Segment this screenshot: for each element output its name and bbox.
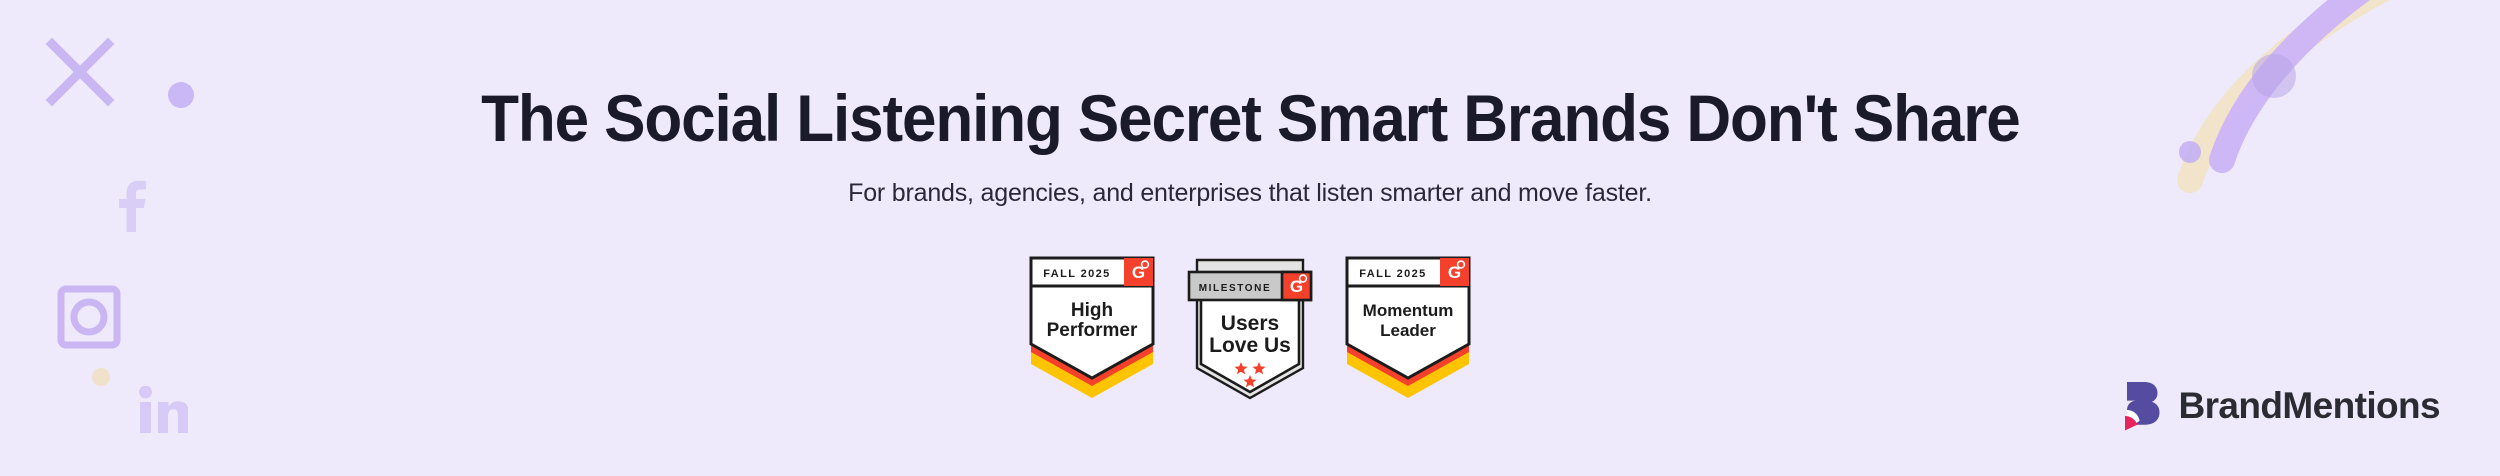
page-title: The Social Listening Secret Smart Brands… — [481, 84, 2020, 153]
brandmentions-mark-icon — [2119, 380, 2165, 432]
svg-text:G: G — [1290, 277, 1303, 296]
badge-period: FALL 2025 — [1359, 268, 1426, 280]
brandmentions-wordmark: BrandMentions — [2179, 385, 2440, 427]
g2-badge-high-performer[interactable]: G FALL 2025 High Performer — [1025, 252, 1159, 404]
badge-title-line2: Performer — [1047, 320, 1138, 341]
badge-title-line2: Love Us — [1209, 334, 1291, 357]
badge-title-line2: Leader — [1380, 321, 1436, 340]
badge-title-line1: Users — [1221, 312, 1279, 335]
brandmentions-logo[interactable]: BrandMentions — [2119, 380, 2440, 432]
g2-badge-list: G FALL 2025 High Performer G MILESTONE U… — [1025, 252, 1475, 404]
badge-period: FALL 2025 — [1043, 268, 1110, 280]
g2-badge-users-love-us[interactable]: G MILESTONE Users Love Us — [1183, 252, 1317, 404]
page-subtitle: For brands, agencies, and enterprises th… — [848, 179, 1652, 208]
svg-text:G: G — [1132, 263, 1145, 282]
svg-text:G: G — [1448, 263, 1461, 282]
g2-badge-momentum-leader[interactable]: G FALL 2025 Momentum Leader — [1341, 252, 1475, 404]
badge-title-line1: Momentum — [1363, 301, 1454, 320]
badge-title-line1: High — [1071, 300, 1113, 321]
badge-period: MILESTONE — [1199, 283, 1272, 294]
